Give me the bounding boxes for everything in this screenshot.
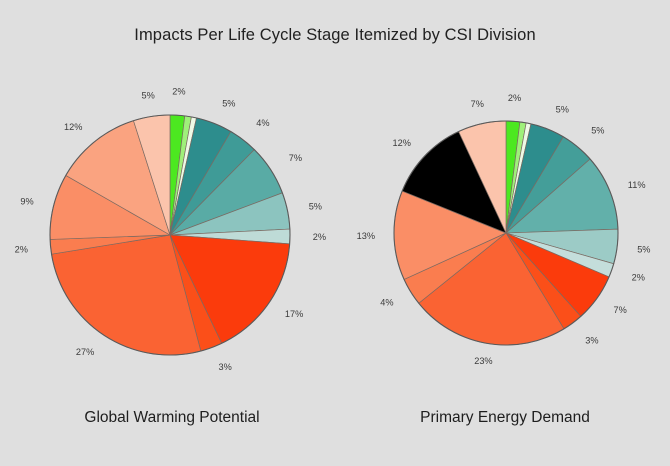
chart-title: Impacts Per Life Cycle Stage Itemized by… bbox=[0, 26, 670, 45]
slice-label-red-3: 3% bbox=[219, 362, 232, 372]
slice-label-salmon-13: 13% bbox=[357, 231, 375, 241]
slice-label-salmon-9: 9% bbox=[20, 197, 33, 207]
slice-label-green-2: 2% bbox=[172, 87, 185, 97]
pie-slices bbox=[394, 121, 618, 345]
slice-label-orange-23: 23% bbox=[474, 356, 492, 366]
pie-chart-global-warming-potential: 2%5%4%7%5%2%17%3%27%2%9%12%5% bbox=[18, 82, 328, 392]
slice-label-salmon-12: 12% bbox=[393, 138, 411, 148]
pie-svg-left: 2%5%4%7%5%2%17%3%27%2%9%12%5% bbox=[18, 82, 328, 392]
pie-slices bbox=[50, 115, 290, 355]
slice-label-orange-2: 2% bbox=[15, 244, 28, 254]
slice-label-red-17: 17% bbox=[285, 309, 303, 319]
slice-label-teal-5a: 5% bbox=[556, 105, 569, 115]
slice-label-teal-2: 2% bbox=[313, 232, 326, 242]
pie-chart-primary-energy-demand: 2%5%5%11%5%2%7%3%23%4%13%12%7% bbox=[364, 90, 654, 380]
slice-label-teal-11: 11% bbox=[628, 180, 646, 190]
slice-label-peach-7: 7% bbox=[471, 99, 484, 109]
chart-figure: Impacts Per Life Cycle Stage Itemized by… bbox=[0, 0, 670, 466]
caption-global-warming-potential: Global Warming Potential bbox=[12, 409, 332, 427]
caption-primary-energy-demand: Primary Energy Demand bbox=[345, 409, 665, 427]
pie-svg-right: 2%5%5%11%5%2%7%3%23%4%13%12%7% bbox=[364, 90, 654, 380]
slice-label-orange-27: 27% bbox=[76, 347, 94, 357]
slice-label-teal-2: 2% bbox=[632, 273, 645, 283]
slice-label-teal-5a: 5% bbox=[222, 99, 235, 109]
slice-label-teal-7: 7% bbox=[289, 153, 302, 163]
slice-label-peach-5: 5% bbox=[142, 90, 155, 100]
slice-label-red-3: 3% bbox=[585, 335, 598, 345]
slice-label-red-7: 7% bbox=[614, 305, 627, 315]
slice-label-teal-5b: 5% bbox=[591, 126, 604, 136]
slice-label-green-2: 2% bbox=[508, 93, 521, 103]
slice-label-salmon-12: 12% bbox=[64, 122, 82, 132]
slice-label-teal-4: 4% bbox=[256, 118, 269, 128]
slice-label-teal-5c: 5% bbox=[637, 244, 650, 254]
slice-label-teal-5b: 5% bbox=[309, 202, 322, 212]
slice-label-orange-4: 4% bbox=[380, 298, 393, 308]
